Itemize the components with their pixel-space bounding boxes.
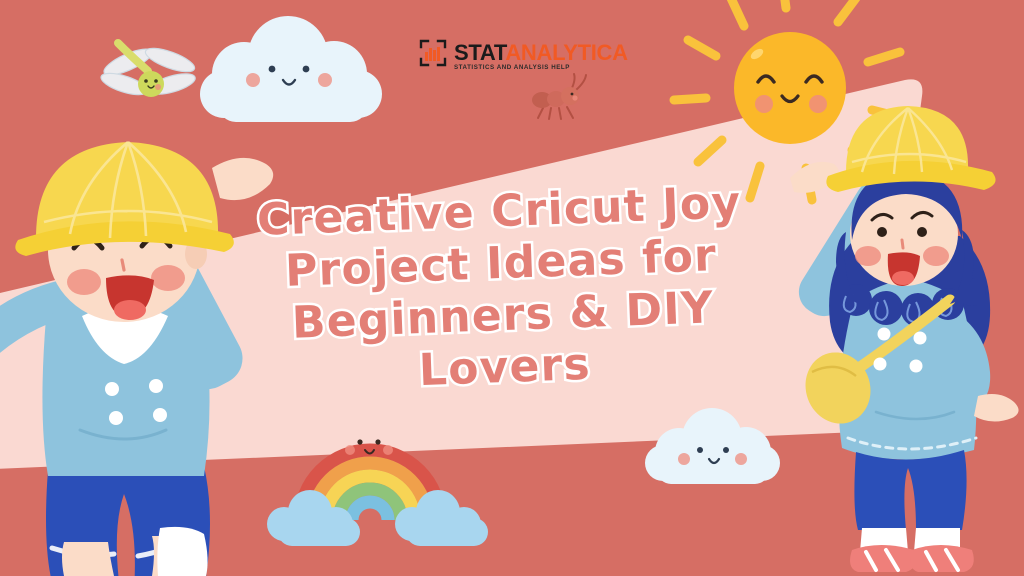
logo-word-stat: STAT bbox=[454, 40, 505, 65]
logo-tagline: STATISTICS AND ANALYSIS HELP bbox=[454, 64, 570, 71]
statanalytica-bracket-bar-chart-logo-icon bbox=[418, 38, 448, 68]
page-title: Creative Cricut Joy Project Ideas for Be… bbox=[242, 177, 761, 404]
poster-canvas: STATANALYTICA STATISTICS AND ANALYSIS HE… bbox=[0, 0, 1024, 576]
logo-word-analytica: ANALYTICA bbox=[505, 40, 627, 65]
logo-wordmark: STATANALYTICA bbox=[454, 42, 628, 64]
